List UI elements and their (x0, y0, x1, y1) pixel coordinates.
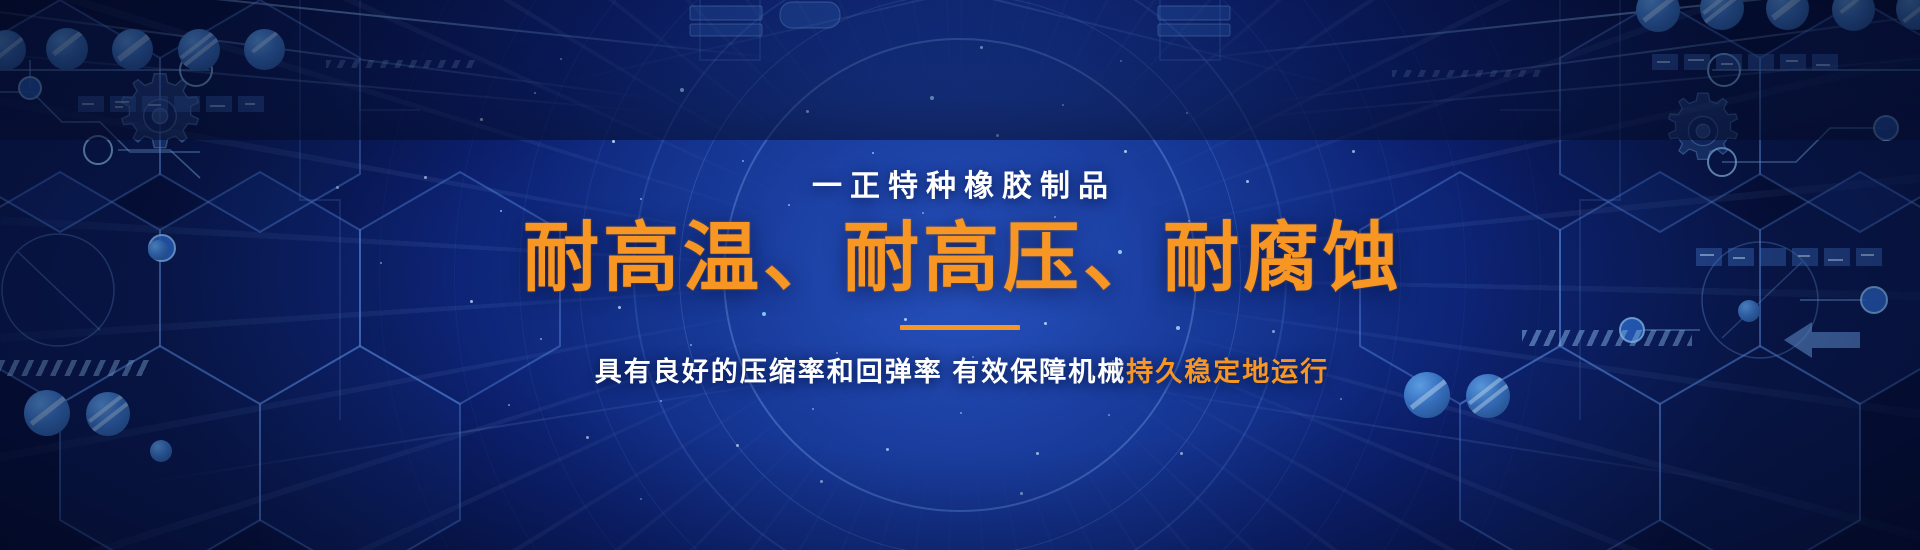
hero-banner: 一正特种橡胶制品 耐高温、耐高压、耐腐蚀 具有良好的压缩率和回弹率 有效保障机械… (0, 0, 1920, 550)
banner-copy: 一正特种橡胶制品 耐高温、耐高压、耐腐蚀 具有良好的压缩率和回弹率 有效保障机械… (0, 0, 1920, 550)
banner-eyebrow: 一正特种橡胶制品 (804, 161, 1116, 205)
tagline-orange-part: 持久稳定地运行 (1126, 357, 1329, 387)
banner-headline: 耐高温、耐高压、耐腐蚀 (517, 219, 1403, 299)
banner-tagline: 具有良好的压缩率和回弹率 有效保障机械持久稳定地运行 (591, 350, 1330, 389)
tagline-white-part: 具有良好的压缩率和回弹率 有效保障机械 (595, 357, 1127, 387)
headline-divider (900, 325, 1020, 330)
